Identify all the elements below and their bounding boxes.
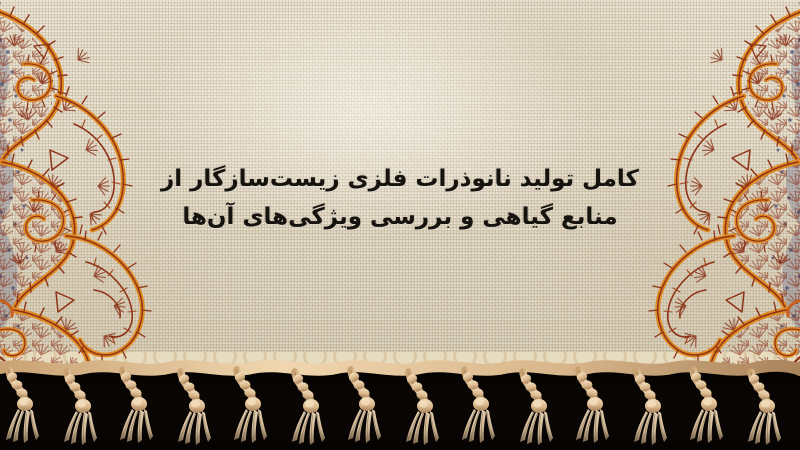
title-slide: کامل تولید نانوذرات فلزی زیست‌سازگار از … [0, 0, 800, 450]
title-line-2: منابع گیاهی و بررسی ویژگی‌های آن‌ها [0, 198, 800, 236]
title-line-1: کامل تولید نانوذرات فلزی زیست‌سازگار از [0, 160, 800, 198]
title-block: کامل تولید نانوذرات فلزی زیست‌سازگار از … [0, 160, 800, 236]
black-background-band [0, 368, 800, 450]
